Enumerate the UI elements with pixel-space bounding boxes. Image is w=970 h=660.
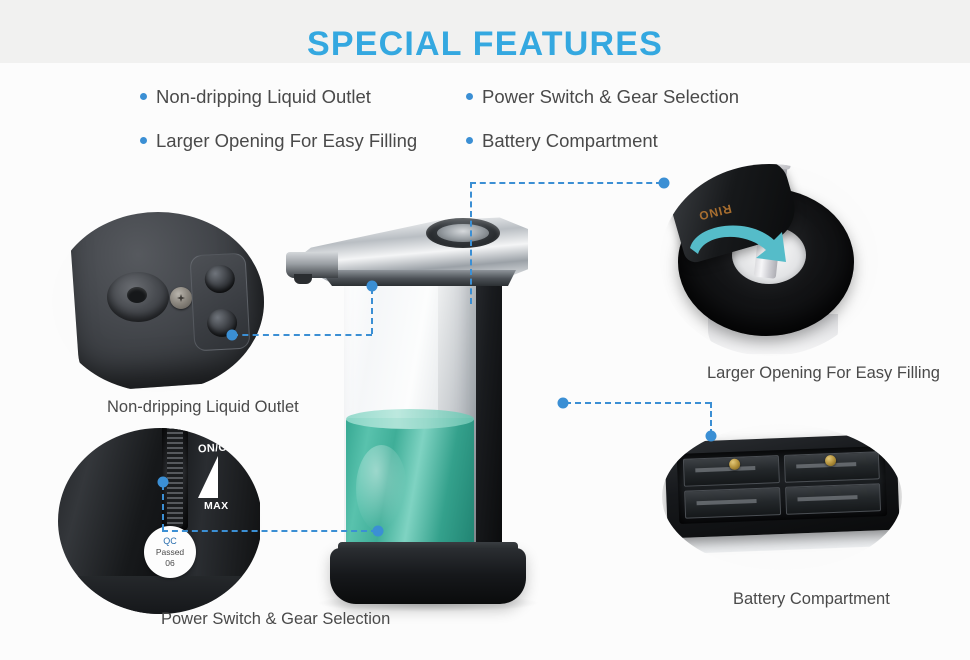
dispenser-base <box>58 576 262 614</box>
dispenser-cap-ring <box>426 218 500 248</box>
battery-row <box>683 451 880 487</box>
connector-node-body <box>558 398 569 409</box>
detail-photo-battery <box>662 424 902 570</box>
infographic-canvas: SPECIAL FEATURES Non-dripping Liquid Out… <box>0 0 970 660</box>
lid-opening-image: RINO <box>660 164 878 356</box>
feature-label: Larger Opening For Easy Filling <box>156 130 417 152</box>
connector-battery-horizontal <box>565 402 711 404</box>
connector-lid-vertical <box>470 182 472 304</box>
connector-lid-horizontal <box>470 182 662 184</box>
max-label: MAX <box>204 500 229 512</box>
feature-list-left: Non-dripping Liquid Outlet Larger Openin… <box>140 86 417 174</box>
screw-icon <box>170 287 192 309</box>
bullet-dot-icon <box>466 93 473 100</box>
connector-nozzle-vertical <box>371 288 373 334</box>
caption-nozzle: Non-dripping Liquid Outlet <box>107 398 299 417</box>
bullet-dot-icon <box>466 137 473 144</box>
battery-row <box>684 484 881 520</box>
dispenser-spout <box>286 252 338 278</box>
product-image-soap-dispenser <box>286 196 576 608</box>
connector-nozzle-horizontal <box>232 334 372 336</box>
page-title: SPECIAL FEATURES <box>0 25 970 64</box>
qc-passed-sticker: QC Passed 06 <box>144 526 196 578</box>
connector-node-dispenser <box>373 526 384 537</box>
battery-well <box>677 446 888 524</box>
qc-status: Passed <box>156 547 184 558</box>
dispenser-base <box>330 548 526 604</box>
feature-item-opening: Larger Opening For Easy Filling <box>140 130 417 152</box>
sensor-plate <box>190 253 251 352</box>
bullet-dot-icon <box>140 137 147 144</box>
caption-lid-opening: Larger Opening For Easy Filling <box>707 364 940 383</box>
nozzle-image <box>52 212 264 392</box>
battery-cell <box>785 484 882 516</box>
detail-photo-power-switch: ON/OFF MAX QC Passed 06 <box>58 428 262 614</box>
connector-switch-horizontal <box>162 530 377 532</box>
feature-item-switch: Power Switch & Gear Selection <box>466 86 739 108</box>
feature-item-nozzle: Non-dripping Liquid Outlet <box>140 86 417 108</box>
battery-cell <box>684 487 781 519</box>
detail-photo-lid-opening: RINO <box>660 164 878 356</box>
qc-number: 06 <box>165 558 174 569</box>
open-direction-arrow-icon <box>686 218 794 286</box>
feature-label: Battery Compartment <box>482 130 658 152</box>
feature-list-right: Power Switch & Gear Selection Battery Co… <box>466 86 739 174</box>
connector-node-nozzle <box>227 330 238 341</box>
connector-node-switch <box>158 477 169 488</box>
detail-photo-nozzle <box>52 212 264 392</box>
bullet-dot-icon <box>140 93 147 100</box>
liquid-outlet-icon <box>107 272 169 322</box>
connector-switch-vertical <box>162 484 164 530</box>
sensor-lens-icon <box>204 264 235 294</box>
power-switch-image: ON/OFF MAX QC Passed 06 <box>58 428 262 614</box>
dispenser-chrome-band <box>316 270 516 286</box>
feature-item-battery: Battery Compartment <box>466 130 739 152</box>
feature-label: Non-dripping Liquid Outlet <box>156 86 371 108</box>
battery-shell <box>664 434 900 539</box>
connector-node-battery <box>706 431 717 442</box>
caption-battery: Battery Compartment <box>733 590 890 609</box>
qc-label: QC <box>163 536 177 547</box>
connector-node-spout <box>367 281 378 292</box>
caption-power-switch: Power Switch & Gear Selection <box>161 610 390 629</box>
battery-compartment-image <box>662 424 902 570</box>
feature-label: Power Switch & Gear Selection <box>482 86 739 108</box>
connector-node-lid <box>659 178 670 189</box>
